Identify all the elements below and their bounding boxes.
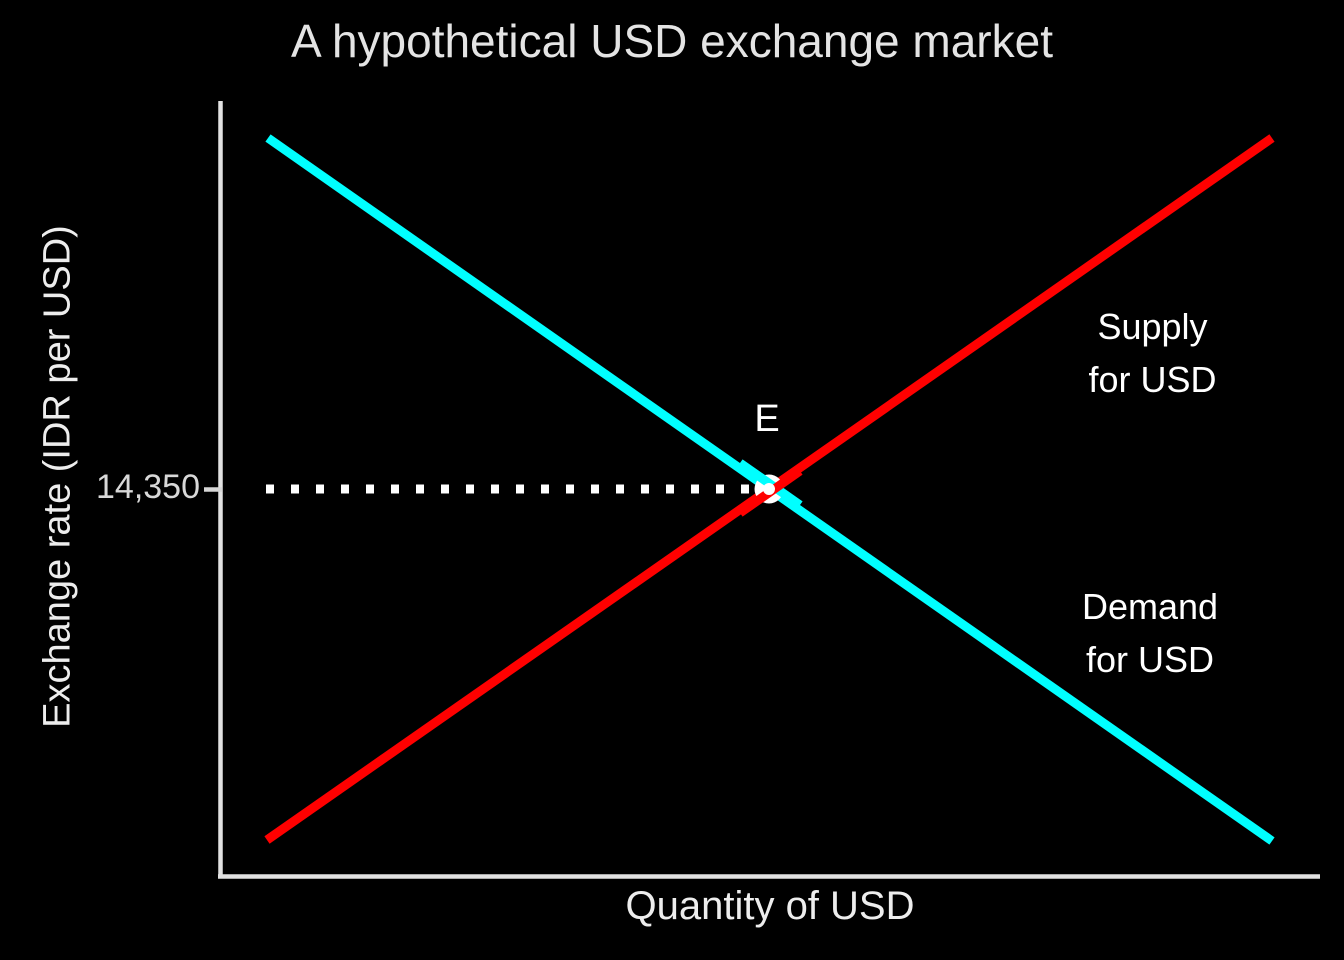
demand-curve-label-line1: Demand	[1050, 580, 1250, 633]
supply-curve-label-line2: for USD	[1055, 353, 1250, 406]
demand-curve-label-line2: for USD	[1050, 633, 1250, 686]
equilibrium-point-core	[763, 483, 775, 495]
y-tick-label-14350: 14,350	[18, 468, 200, 507]
demand-curve-label: Demand for USD	[1050, 580, 1250, 686]
equilibrium-label: E	[735, 398, 799, 441]
exchange-market-chart: A hypothetical USD exchange market Excha…	[0, 0, 1344, 960]
supply-curve-label: Supply for USD	[1055, 300, 1250, 406]
plot-area	[0, 0, 1344, 960]
supply-curve-label-line1: Supply	[1055, 300, 1250, 353]
x-axis-title: Quantity of USD	[420, 884, 1120, 929]
